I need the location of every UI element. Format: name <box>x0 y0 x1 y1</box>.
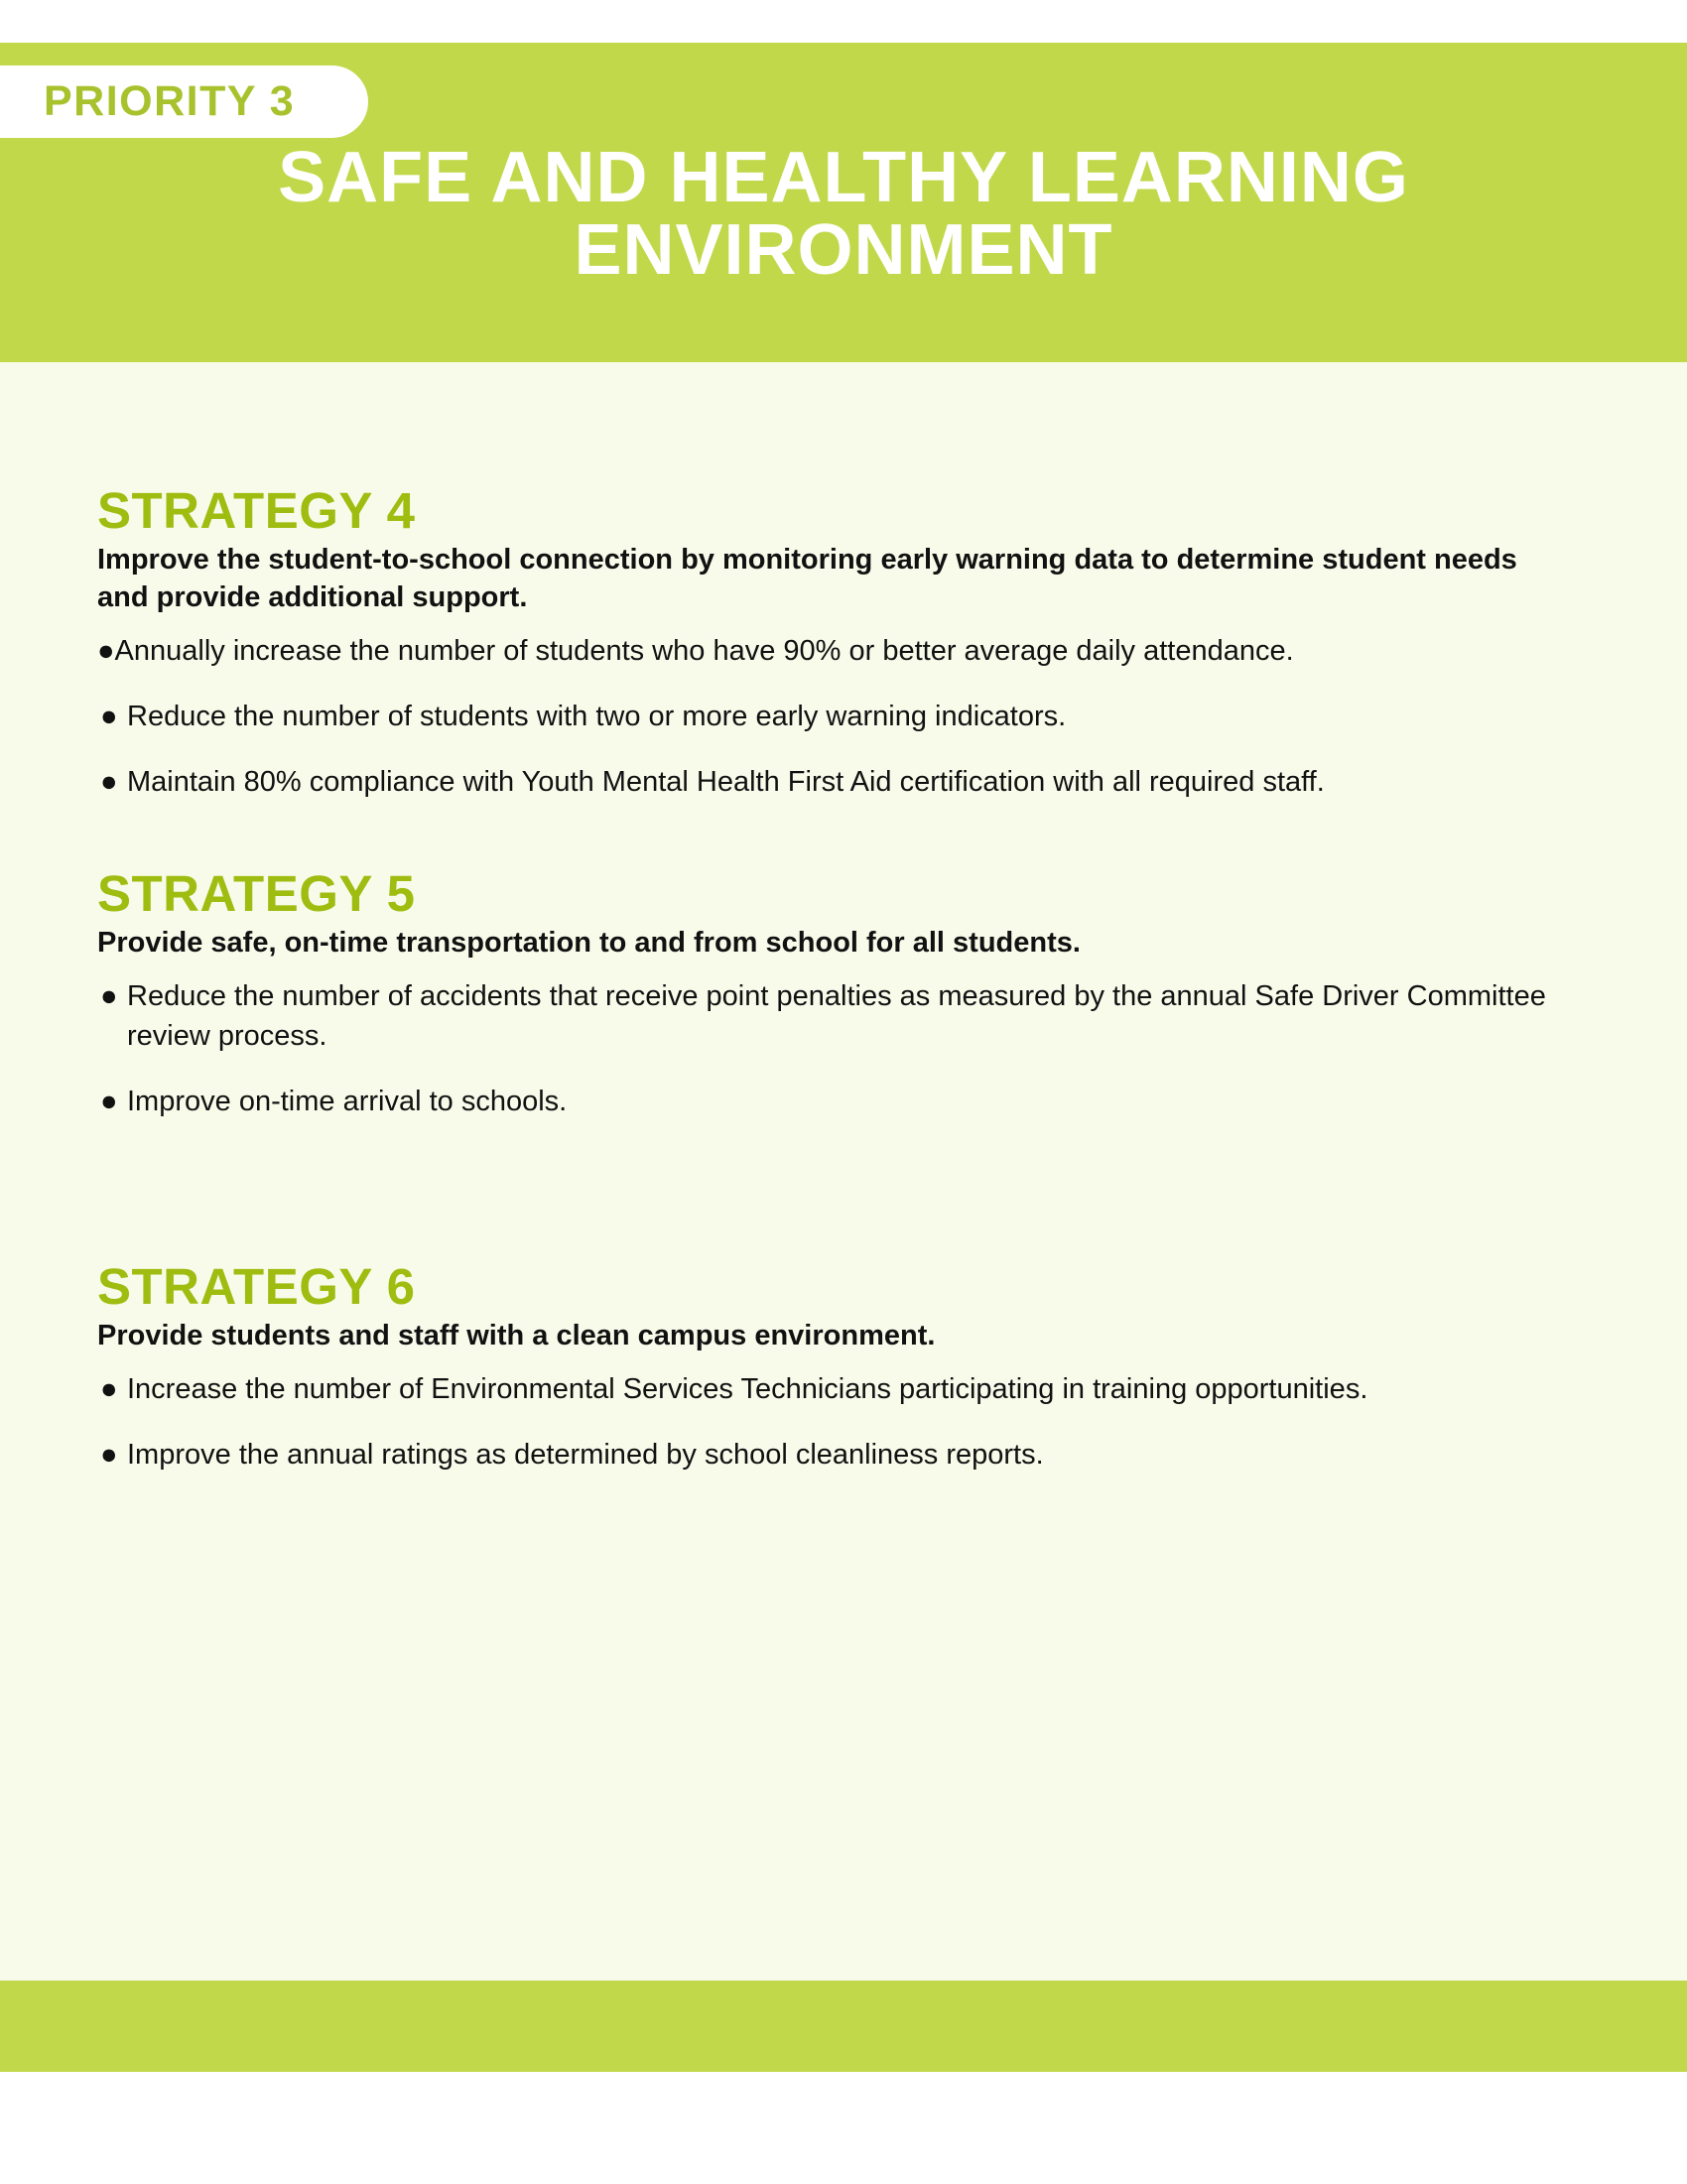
list-item: ●Improve on-time arrival to schools. <box>97 1083 1586 1122</box>
list-item-text: Maintain 80% compliance with Youth Menta… <box>127 766 1325 798</box>
section-spacer <box>97 829 1586 866</box>
strategy-subtitle-4: Improve the student-to-school connection… <box>97 542 1556 616</box>
page-title-line-1: SAFE AND HEALTHY LEARNING <box>278 138 1409 217</box>
strategy-heading-4: STRATEGY 4 <box>97 483 1586 538</box>
footer-band <box>0 1981 1687 2072</box>
section-spacer <box>97 1148 1586 1259</box>
body-area: STRATEGY 4 Improve the student-to-school… <box>0 362 1687 1981</box>
list-item: ●Reduce the number of accidents that rec… <box>97 977 1586 1056</box>
list-item: ●Reduce the number of students with two … <box>97 698 1586 737</box>
list-item-text: Reduce the number of accidents that rece… <box>127 980 1546 1052</box>
list-item-text: Annually increase the number of students… <box>115 635 1294 667</box>
document-page: PRIORITY 3 SAFE AND HEALTHY LEARNING ENV… <box>0 0 1687 2184</box>
strategy-block-6: STRATEGY 6 Provide students and staff wi… <box>97 1259 1586 1476</box>
bullet-dot-icon: ● <box>100 763 118 803</box>
priority-badge: PRIORITY 3 <box>0 65 368 138</box>
page-title: SAFE AND HEALTHY LEARNING ENVIRONMENT <box>0 142 1687 288</box>
strategy-bullet-list-5: ●Reduce the number of accidents that rec… <box>97 977 1586 1121</box>
bullet-dot-icon: ● <box>100 1436 118 1476</box>
strategy-block-4: STRATEGY 4 Improve the student-to-school… <box>97 483 1586 803</box>
header-band: PRIORITY 3 SAFE AND HEALTHY LEARNING ENV… <box>0 43 1687 362</box>
list-item-text: Improve on-time arrival to schools. <box>127 1086 567 1117</box>
bullet-dot-icon: ● <box>100 1083 118 1122</box>
bullet-dot-icon: ● <box>100 698 118 737</box>
strategy-heading-5: STRATEGY 5 <box>97 866 1586 921</box>
strategies-container: STRATEGY 4 Improve the student-to-school… <box>97 483 1586 1501</box>
strategy-bullet-list-4: ●Annually increase the number of student… <box>97 632 1586 802</box>
bullet-dot-icon: ● <box>97 635 115 667</box>
list-item-text: Reduce the number of students with two o… <box>127 701 1066 732</box>
strategy-subtitle-5: Provide safe, on-time transportation to … <box>97 925 1556 963</box>
strategy-heading-6: STRATEGY 6 <box>97 1259 1586 1314</box>
list-item-text: Improve the annual ratings as determined… <box>127 1439 1044 1471</box>
strategy-bullet-list-6: ●Increase the number of Environmental Se… <box>97 1370 1586 1475</box>
list-item: ●Maintain 80% compliance with Youth Ment… <box>97 763 1586 803</box>
list-item: ●Improve the annual ratings as determine… <box>97 1436 1586 1476</box>
list-item-text: Increase the number of Environmental Ser… <box>127 1373 1367 1405</box>
strategy-subtitle-6: Provide students and staff with a clean … <box>97 1318 1556 1355</box>
page-title-line-2: ENVIRONMENT <box>119 214 1568 287</box>
strategy-block-5: STRATEGY 5 Provide safe, on-time transpo… <box>97 866 1586 1122</box>
bullet-dot-icon: ● <box>100 1370 118 1410</box>
bullet-dot-icon: ● <box>100 977 118 1017</box>
list-item: ●Annually increase the number of student… <box>97 632 1586 672</box>
list-item: ●Increase the number of Environmental Se… <box>97 1370 1586 1410</box>
priority-badge-label: PRIORITY 3 <box>44 80 295 123</box>
